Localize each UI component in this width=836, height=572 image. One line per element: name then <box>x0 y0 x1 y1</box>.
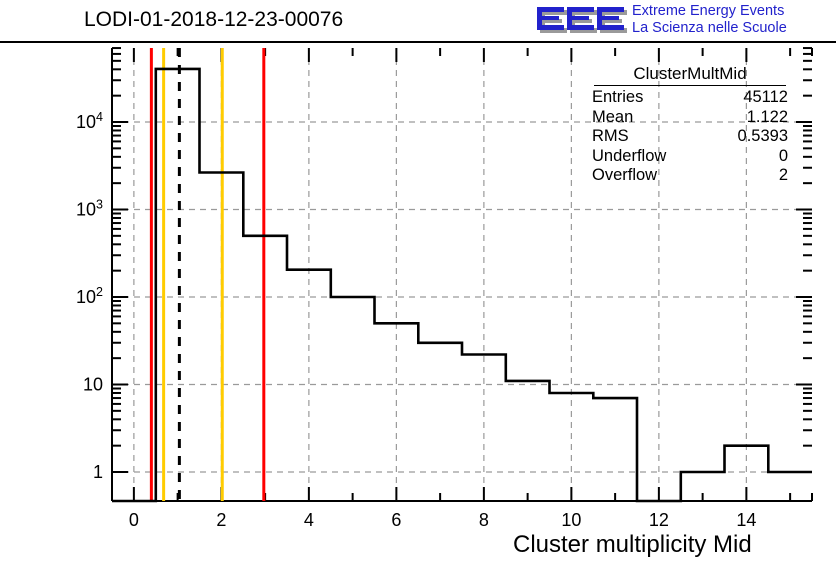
stats-row: RMS0.5393 <box>588 127 792 147</box>
stats-box-title: ClusterMultMid <box>588 64 792 85</box>
stats-row-label: Overflow <box>592 166 657 186</box>
stats-rows: Entries45112Mean1.122RMS0.5393Underflow0… <box>588 88 792 186</box>
stats-row-value: 1.122 <box>747 108 788 128</box>
stats-row: Entries45112 <box>588 88 792 108</box>
x-tick-label: 4 <box>304 510 314 530</box>
x-axis-title: Cluster multiplicity Mid <box>513 531 752 559</box>
x-tick-label: 12 <box>649 510 669 530</box>
y-tick-label: 103 <box>76 198 103 220</box>
y-axis-tick-labels: 110102103104 <box>76 110 103 482</box>
x-tick-label: 6 <box>391 510 401 530</box>
stats-box: ClusterMultMid Entries45112Mean1.122RMS0… <box>588 64 792 186</box>
stats-row-value: 0 <box>779 147 788 167</box>
y-tick-label: 10 <box>83 375 103 395</box>
stats-row-label: Mean <box>592 108 633 128</box>
stats-row-value: 0.5393 <box>738 127 788 147</box>
stats-box-divider <box>594 85 786 86</box>
x-tick-label: 0 <box>129 510 139 530</box>
x-tick-label: 8 <box>479 510 489 530</box>
y-tick-label: 1 <box>93 462 103 482</box>
stats-row-value: 45112 <box>743 88 788 108</box>
y-tick-label: 104 <box>76 110 103 132</box>
x-tick-label: 10 <box>561 510 581 530</box>
x-tick-label: 2 <box>216 510 226 530</box>
x-axis-tick-labels: 02468101214 <box>129 510 757 530</box>
stats-row-value: 2 <box>779 166 788 186</box>
x-tick-label: 14 <box>736 510 756 530</box>
marker-lines <box>151 48 263 501</box>
stats-row: Underflow0 <box>588 147 792 167</box>
stats-row-label: RMS <box>592 127 629 147</box>
stats-row-label: Underflow <box>592 147 666 167</box>
stats-row: Mean1.122 <box>588 108 792 128</box>
stats-row: Overflow2 <box>588 166 792 186</box>
plot-canvas: LODI-01-2018-12-23-00076 Extreme Energy … <box>0 0 836 572</box>
stats-row-label: Entries <box>592 88 643 108</box>
y-tick-label: 102 <box>76 285 103 307</box>
